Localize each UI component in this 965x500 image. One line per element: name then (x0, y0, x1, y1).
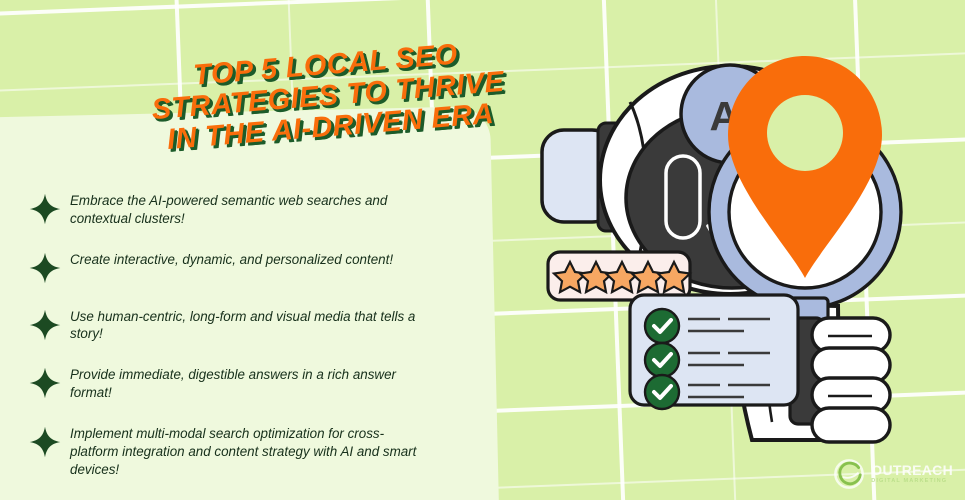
checklist-card (630, 295, 798, 409)
list-item: Provide immediate, digestible answers in… (28, 360, 448, 402)
rating-card (548, 252, 690, 300)
list-item-text: Create interactive, dynamic, and persona… (70, 245, 393, 269)
star-bullet-icon (28, 366, 62, 400)
robot-eye-left (666, 156, 700, 238)
list-item: Implement multi-modal search optimizatio… (28, 419, 448, 478)
check-icon (645, 309, 679, 343)
logo-name: OUTREACH (871, 463, 953, 477)
star-bullet-icon (28, 425, 62, 459)
outreach-swirl-icon (833, 458, 865, 490)
list-item: Use human-centric, long-form and visual … (28, 302, 448, 344)
logo-tagline: DIGITAL MARKETING (871, 479, 953, 485)
list-item: Embrace the AI-powered semantic web sear… (28, 186, 448, 228)
list-item-text: Use human-centric, long-form and visual … (70, 302, 422, 344)
robot-illustration: Ai (520, 30, 940, 460)
brand-logo: OUTREACH DIGITAL MARKETING (833, 458, 953, 490)
list-item-text: Provide immediate, digestible answers in… (70, 360, 422, 402)
star-bullet-icon (28, 251, 62, 285)
robot-hand (812, 318, 890, 442)
list-item-text: Implement multi-modal search optimizatio… (70, 419, 422, 478)
strategy-list: Embrace the AI-powered semantic web sear… (28, 186, 448, 495)
star-bullet-icon (28, 308, 62, 342)
infographic-canvas: TOP 5 LOCAL SEO STRATEGIES TO THRIVE IN … (0, 0, 965, 500)
list-item: Create interactive, dynamic, and persona… (28, 245, 448, 285)
star-bullet-icon (28, 192, 62, 226)
check-icon (645, 375, 679, 409)
check-icon (645, 343, 679, 377)
list-item-text: Embrace the AI-powered semantic web sear… (70, 186, 422, 228)
